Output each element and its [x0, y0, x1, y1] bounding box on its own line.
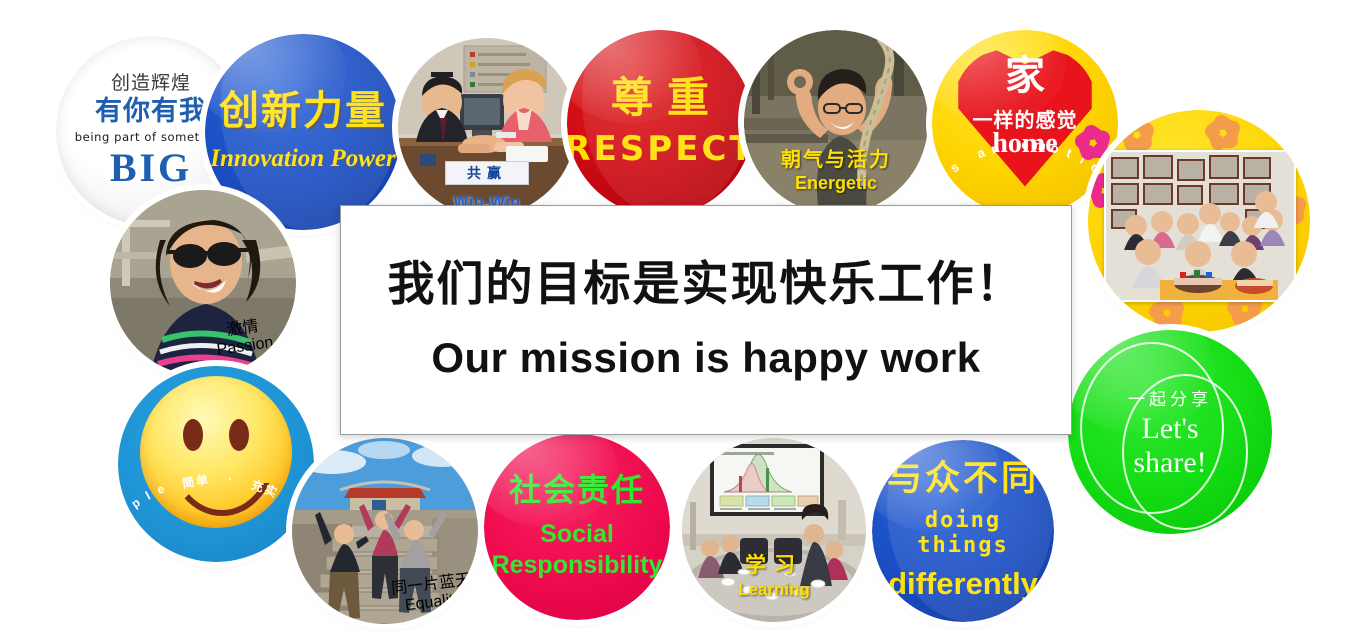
learning-caption-en: Learning [682, 580, 866, 600]
badge-passion[interactable]: 激情 Passion [110, 190, 296, 376]
different-cn: 与众不同 [887, 461, 1039, 496]
badge-win-win[interactable]: 共赢 Win-Win [398, 38, 576, 216]
badge-team-inner [1088, 110, 1310, 332]
values-collage: 创造辉煌 有你有我 being part of something BIG 创新… [0, 0, 1366, 635]
learning-caption: 学习 Learning [682, 549, 866, 600]
group-celebration-photo [1106, 152, 1294, 300]
share-text-group: 一起分享 Let's share! [1128, 385, 1212, 480]
badge-different-inner: 与众不同 doing things differently [872, 440, 1054, 622]
badge-equality-inner: 同一片蓝天 Equality [292, 438, 478, 624]
badge-energetic-inner: 朝气与活力 Energetic [744, 30, 928, 214]
winwin-nameplate-cn: 共赢 [467, 163, 507, 183]
badge-respect-cn: 尊重 [597, 77, 723, 119]
badge-social-responsibility[interactable]: 社会责任 Social Responsibility [484, 434, 670, 620]
share-en-line2: share! [1128, 446, 1212, 480]
handshake-office-photo [398, 38, 576, 216]
badge-social-inner: 社会责任 Social Responsibility [484, 434, 670, 620]
badge-energetic[interactable]: 朝气与活力 Energetic [744, 30, 928, 214]
arc-char: e [1021, 137, 1028, 152]
arc-char: i [936, 170, 949, 183]
badge-learning-inner: 学习 Learning [682, 438, 866, 622]
smiley-eye-left [183, 419, 203, 451]
winwin-nameplate: 共赢 [445, 161, 529, 185]
badge-respect[interactable]: 尊重 RESPECT [567, 30, 753, 216]
team-photo-frame [1104, 150, 1296, 302]
different-en-line1: doing things [872, 508, 1054, 558]
badge-big-line1: 创造辉煌 [111, 74, 191, 95]
energetic-caption: 朝气与活力 Energetic [744, 143, 928, 194]
badge-big-line2: 有你有我 [95, 96, 207, 127]
badge-innovation-en: Innovation Power [210, 145, 395, 173]
arc-char: m [118, 503, 133, 521]
mission-banner: 我们的目标是实现快乐工作！ Our mission is happy work [340, 205, 1072, 435]
arc-char: s [947, 159, 962, 175]
energetic-caption-cn: 朝气与活力 [744, 143, 928, 172]
badge-respect-en: RESPECT [567, 129, 753, 169]
social-cn: 社会责任 [509, 474, 645, 506]
badge-smile-inner: Simple 简单 · 充实 Rich [118, 366, 314, 562]
smile-arc-text: Simple 简单 · 充实 Rich [118, 545, 314, 546]
social-en-line2: Responsibility [492, 551, 663, 580]
mission-statement-cn: 我们的目标是实现快乐工作！ [388, 258, 1025, 312]
badge-winwin-inner: 共赢 Win-Win [398, 38, 576, 216]
passion-caption: 激情 Passion [212, 310, 274, 360]
arc-char: m [1033, 137, 1046, 153]
arc-char: p [129, 495, 143, 511]
energetic-caption-en: Energetic [744, 173, 928, 194]
arc-char [214, 471, 217, 485]
blossom-icon [1206, 116, 1240, 150]
badge-team-photo[interactable] [1088, 110, 1310, 332]
badge-lets-share[interactable]: 一起分享 Let's share! [1068, 330, 1272, 534]
share-en-line1: Let's [1128, 412, 1212, 446]
home-cn-big: 家 [932, 56, 1118, 96]
learning-caption-cn: 学习 [682, 549, 866, 579]
smiley-eye-right [229, 419, 249, 451]
badge-respect-inner: 尊重 RESPECT [567, 30, 753, 216]
share-cn: 一起分享 [1128, 385, 1212, 410]
different-en-line2: differently [888, 566, 1038, 602]
badge-learning[interactable]: 学习 Learning [682, 438, 866, 622]
mission-statement-en: Our mission is happy work [431, 334, 980, 382]
badge-doing-things-differently[interactable]: 与众不同 doing things differently [872, 440, 1054, 622]
badge-innovation-cn: 创新力量 [219, 91, 387, 131]
badge-big-line4: BIG [110, 148, 192, 188]
badge-passion-inner: 激情 Passion [110, 190, 296, 376]
badge-share-inner: 一起分享 Let's share! [1068, 330, 1272, 534]
arc-char: i [118, 515, 120, 527]
smiley-face-icon [140, 376, 292, 528]
badge-equality[interactable]: 同一片蓝天 Equality [292, 438, 478, 624]
badge-simple-rich-smiley[interactable]: Simple 简单 · 充实 Rich [118, 366, 314, 562]
arc-char: 单 [195, 471, 209, 489]
blossom-icon [1120, 118, 1154, 152]
social-en-line1: Social [540, 520, 614, 549]
